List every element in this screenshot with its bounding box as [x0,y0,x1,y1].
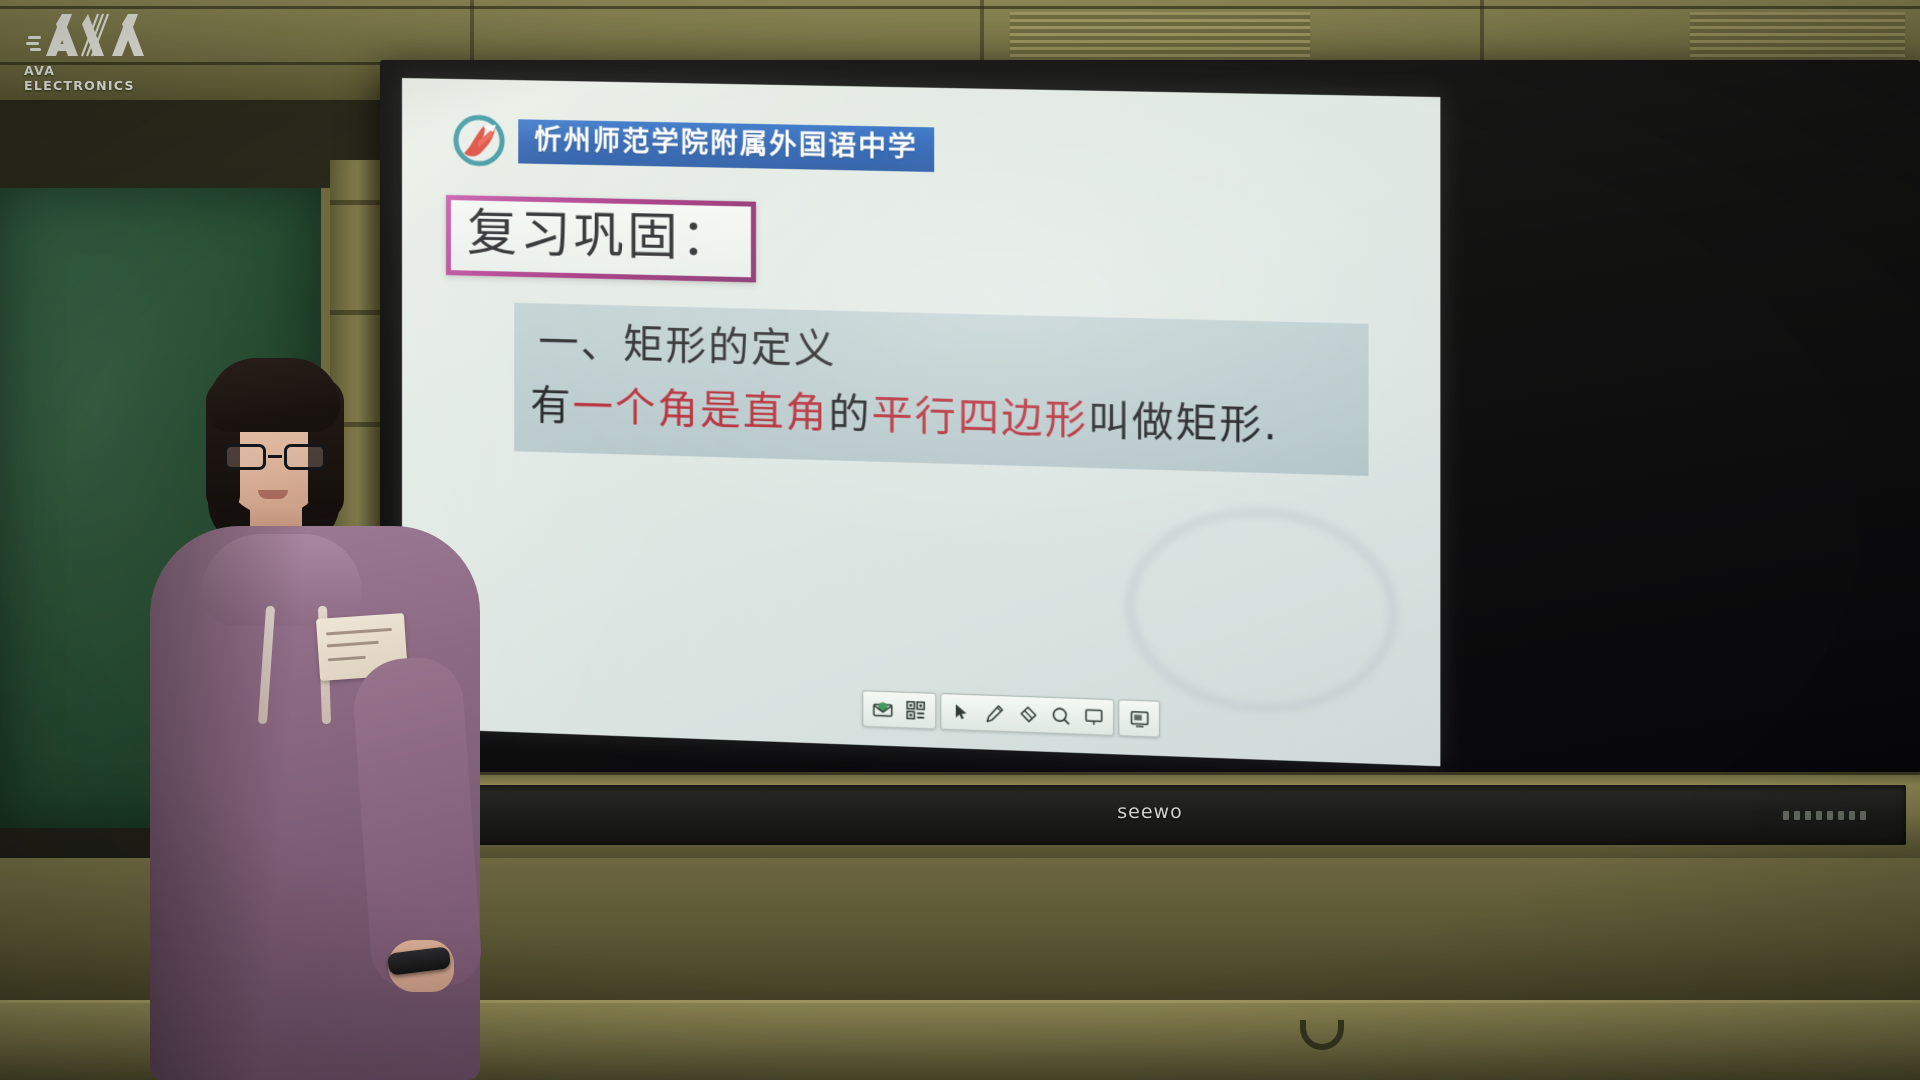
ceiling-vent-right [1690,12,1905,58]
teacher-figure [150,358,480,1080]
slide-header: 忻州师范学院附属外国语中学 [450,111,1413,189]
glasses-icon [222,444,328,470]
toolbar-group-present [1118,699,1160,737]
school-emblem-icon [450,111,508,170]
mail-icon[interactable] [867,695,898,724]
projection-screen[interactable]: 忻州师范学院附属外国语中学 复习巩固： 一、矩形的定义 有一个角是直角的平行四边… [402,78,1440,766]
qrcode-icon[interactable] [900,696,931,726]
seg-0: 有 [530,383,572,430]
ceiling-vent-left [1010,12,1310,58]
pen-icon[interactable] [978,698,1009,728]
magnifier-icon[interactable] [1045,701,1076,731]
school-name-banner: 忻州师范学院附属外国语中学 [518,119,934,172]
speaker-bar: seewo [394,785,1906,845]
seg-2: 的 [829,391,872,439]
led-indicator-strip [1783,811,1866,820]
seg-1: 一个角是直角 [573,384,829,437]
seg-3: 平行四边形 [872,392,1089,445]
toolbar-group-apps [862,690,936,729]
seg-4: 叫做矩形. [1088,398,1279,450]
toolbar-group-tools [940,693,1114,736]
whiteboard-chassis: seewo [380,772,1920,860]
classroom-scene: 忻州师范学院附属外国语中学 复习巩固： 一、矩形的定义 有一个角是直角的平行四边… [0,0,1920,1080]
section-title-text: 复习巩固： [467,203,735,267]
definition-band: 一、矩形的定义 有一个角是直角的平行四边形叫做矩形. [514,303,1368,477]
section-title-box: 复习巩固： [446,195,756,283]
screen-icon[interactable] [1078,702,1109,732]
eraser-icon[interactable] [1012,700,1043,730]
cursor-pointer-icon[interactable] [946,697,977,727]
present-icon[interactable] [1124,704,1155,734]
device-brand-label: seewo [1117,801,1182,823]
